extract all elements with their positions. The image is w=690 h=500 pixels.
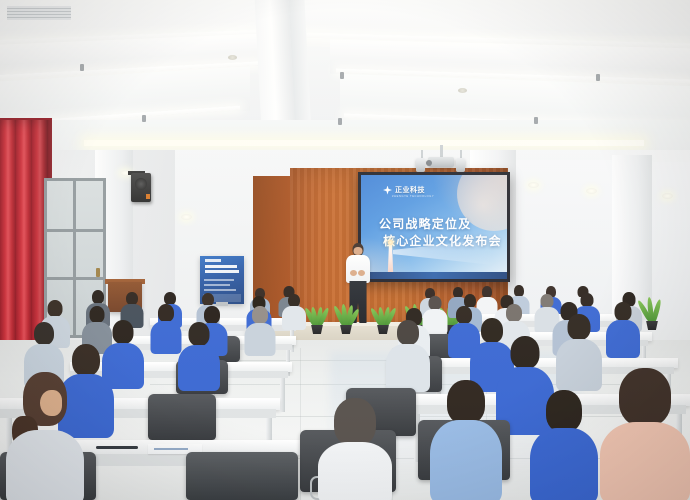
downlight-icon — [662, 193, 673, 199]
speaker-indicator-light — [146, 194, 150, 199]
presenter-hand-right — [358, 270, 365, 276]
door-handle[interactable] — [96, 268, 100, 277]
projection-screen[interactable]: 正业科技 ZHENGYE TECHNOLOGY 公司战略定位及 核心企业文化发布… — [358, 172, 510, 282]
paper-text-line — [154, 448, 188, 450]
stage-plant — [335, 306, 357, 334]
audience-member — [150, 304, 181, 352]
sprinkler-nozzle-icon — [142, 115, 146, 122]
pen-on-desk — [96, 446, 138, 449]
audience-member-front-right — [600, 368, 690, 500]
sprinkler-nozzle-icon — [340, 72, 344, 79]
downlight-icon — [586, 188, 597, 194]
audience-member-front-mid — [430, 380, 502, 500]
audience-member — [178, 322, 220, 388]
ceiling — [0, 0, 690, 172]
logo-text: 正业科技 — [395, 185, 425, 195]
stage-plant — [306, 308, 328, 334]
plant-pot — [310, 325, 324, 334]
lighthouse-lamp-icon — [388, 240, 393, 245]
stage-spotlight — [416, 158, 425, 172]
company-logo: 正业科技 — [383, 185, 425, 195]
presenter-shirt — [346, 255, 370, 283]
corner-plant — [640, 300, 664, 330]
audience-member-front-left — [6, 372, 84, 500]
plant-pot — [339, 325, 353, 334]
audience-member — [244, 306, 275, 354]
sprinkler-nozzle-icon — [338, 118, 342, 125]
conference-hall-photo: 正业科技 ZHENGYE TECHNOLOGY 公司战略定位及 核心企业文化发布… — [0, 0, 690, 500]
smoke-detector-icon — [458, 88, 467, 93]
presentation-slide: 正业科技 ZHENGYE TECHNOLOGY 公司战略定位及 核心企业文化发布… — [361, 175, 507, 279]
projector-lens-icon — [426, 160, 432, 166]
audience-member-front-right-2 — [530, 390, 598, 500]
chair — [148, 394, 216, 446]
downlight-icon — [528, 182, 539, 188]
sprinkler-nozzle-icon — [534, 117, 538, 124]
smoke-detector-icon — [228, 55, 237, 60]
banner-title-line — [205, 265, 237, 268]
audience-member — [556, 314, 602, 388]
banner-logo — [205, 259, 221, 262]
stage-spotlight — [456, 158, 465, 172]
logo-subtext: ZHENGYE TECHNOLOGY — [392, 195, 434, 198]
banner-body-line — [204, 289, 236, 291]
presenter-face — [354, 247, 363, 255]
slide-title-line-1: 公司战略定位及 — [379, 215, 471, 232]
audience-member-front-center — [318, 398, 392, 500]
downlight-icon — [181, 214, 192, 220]
banner-body-line — [204, 279, 234, 281]
right-alcove-far — [652, 162, 690, 320]
banner-body-line — [204, 284, 230, 286]
cove-light-strip — [84, 140, 644, 146]
sprinkler-nozzle-icon — [596, 74, 600, 81]
logo-mark-icon — [383, 186, 392, 195]
slide-footer-bar — [361, 272, 507, 279]
audience-member — [606, 302, 640, 356]
sprinkler-nozzle-icon — [80, 64, 84, 71]
audience-member — [386, 320, 430, 388]
chair-front — [186, 452, 298, 500]
banner-title-line — [205, 270, 239, 273]
face-profile — [40, 390, 62, 416]
speaker-cone-icon — [135, 178, 147, 190]
presenter-hand-left — [350, 270, 357, 276]
audience-member — [282, 294, 306, 328]
plant-pot — [645, 321, 659, 330]
